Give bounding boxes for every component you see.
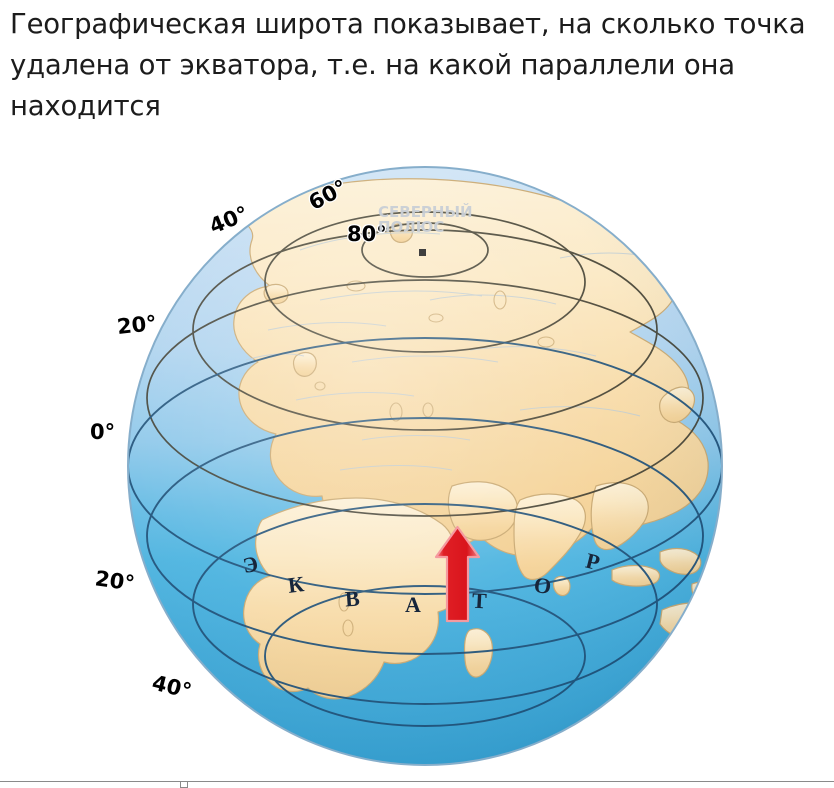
- globe-illustration: 60° 40° 80° 20° 0° 20° 40° СЕВЕРНЫЙ ПОЛЮ…: [0, 0, 834, 788]
- north-pole-label: СЕВЕРНЫЙ ПОЛЮС: [378, 205, 488, 235]
- equator-letter-6: О: [532, 572, 553, 600]
- bottom-marker: [180, 782, 188, 788]
- latitude-label-0: 0°: [90, 420, 115, 444]
- bottom-divider: [0, 781, 834, 788]
- image-canvas: Географическая широта показывает, на ско…: [0, 0, 834, 788]
- globe-svg: [0, 0, 834, 788]
- sphere-shading: [128, 167, 722, 765]
- equator-letter-4: А: [405, 592, 421, 618]
- equator-letter-3: В: [344, 586, 360, 613]
- latitude-label-20n: 20°: [116, 311, 158, 339]
- equator-letter-2: К: [286, 571, 305, 599]
- equator-letter-5: Т: [471, 588, 487, 615]
